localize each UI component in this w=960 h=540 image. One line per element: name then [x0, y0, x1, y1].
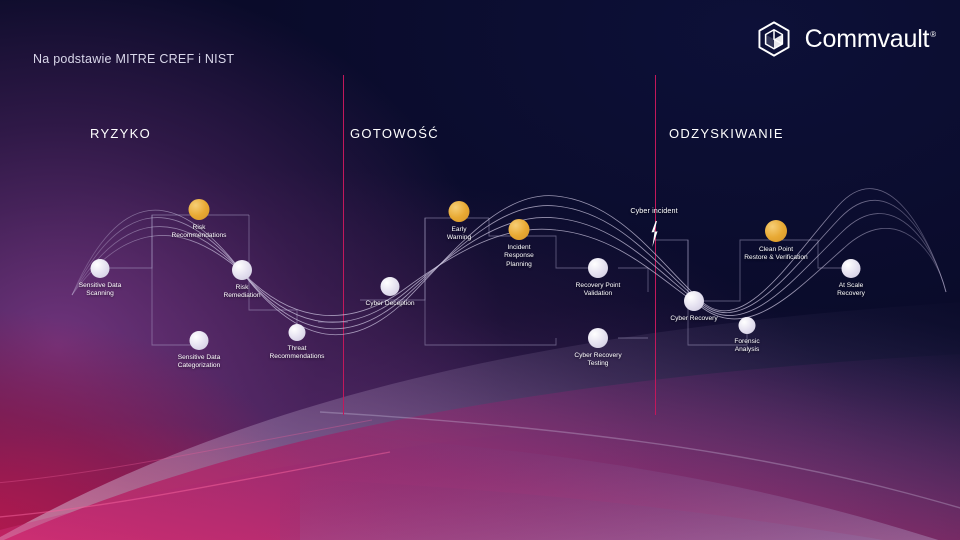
journey-flow-diagram	[0, 0, 960, 540]
node-label: At ScaleRecovery	[837, 282, 865, 299]
bracket-recovery-entry	[618, 268, 648, 292]
node-dot	[684, 291, 704, 311]
node-label: Sensitive DataCategorization	[178, 354, 221, 371]
node-label: Sensitive DataScanning	[79, 282, 122, 299]
node-dot	[91, 259, 110, 278]
node-dot	[449, 201, 470, 222]
node-dot	[381, 277, 400, 296]
node-dot	[190, 331, 209, 350]
node-label: RiskRemediation	[223, 284, 260, 301]
node-dot	[509, 219, 530, 240]
node-label: EarlyWarning	[447, 226, 471, 243]
bracket-recovery-top	[655, 240, 688, 300]
node-dot	[765, 220, 787, 242]
node-label: Cyber Recovery	[670, 315, 717, 323]
lightning-bolt-icon	[648, 221, 660, 247]
node-dot	[842, 259, 861, 278]
node-dot	[289, 324, 306, 341]
node-dot	[588, 328, 608, 348]
node-dot	[588, 258, 608, 278]
node-label: Clean PointRestore & Verification	[744, 246, 807, 263]
cyber-incident-marker: Cyber incident	[630, 206, 677, 247]
bracket-readiness-bottom	[425, 218, 556, 345]
node-dot	[232, 260, 252, 280]
flow-strand-4	[72, 228, 946, 319]
slide-canvas: Na podstawie MITRE CREF i NIST Commvault…	[0, 0, 960, 540]
node-label: IncidentResponsePlanning	[504, 244, 534, 269]
node-label: Cyber Deception	[365, 300, 414, 308]
node-dot	[189, 199, 210, 220]
cyber-incident-label: Cyber incident	[630, 206, 677, 215]
node-label: ThreatRecommendations	[270, 345, 325, 362]
node-label: Cyber RecoveryTesting	[574, 352, 621, 369]
node-label: RiskRecommendations	[172, 224, 227, 241]
node-dot	[739, 317, 756, 334]
node-label: ForensicAnalysis	[734, 338, 759, 355]
node-label: Recovery PointValidation	[576, 282, 621, 299]
